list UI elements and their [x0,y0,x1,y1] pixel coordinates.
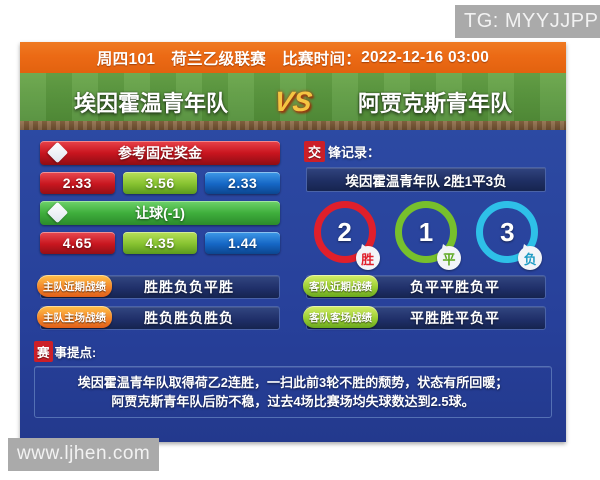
record-row: 主队主场战绩 胜负胜负胜负 [40,306,280,330]
kickoff-time-value: 2022-12-16 03:00 [361,49,489,67]
h2h-draw-circle: 1 平 [395,201,457,263]
kickoff-time-label: 比赛时间： [282,47,361,69]
home-recent-tag: 主队近期战绩 [37,275,112,297]
h2h-loss-badge: 负 [518,246,542,270]
record-row: 主队近期战绩 胜胜负负平胜 [40,275,280,299]
head-to-head-title: 交 锋记录： [304,141,550,162]
bonus-odd-away[interactable]: 2.33 [205,172,280,194]
card-body: 参考固定奖金 2.33 3.56 2.33 让球(-1) 4.65 4.35 [20,130,566,263]
h2h-win-circle: 2 胜 [314,201,376,263]
match-preview-card: 周四101 荷兰乙级联赛 比赛时间： 2022-12-16 03:00 埃因霍温… [20,42,566,442]
records-section: 主队近期战绩 胜胜负负平胜 主队主场战绩 胜负胜负胜负 客队近期战绩 负平平胜负… [20,275,566,337]
bonus-banner: 参考固定奖金 [40,141,280,165]
head-to-head-column: 交 锋记录： 埃因霍温青年队 2胜1平3负 2 胜 1 平 [300,141,552,263]
record-row: 客队近期战绩 负平平胜负平 [306,275,546,299]
h2h-win-badge: 胜 [356,246,380,270]
match-notes-title-rest: 事提点: [55,342,97,361]
match-notes-title-chip: 赛 [34,341,53,362]
round-label: 周四101 [97,47,155,69]
head-to-head-title-rest: 锋记录： [328,142,380,161]
screenshot-root: 周四101 荷兰乙级联赛 比赛时间： 2022-12-16 03:00 埃因霍温… [0,0,600,480]
head-to-head-title-chip: 交 [304,141,325,162]
bonus-banner-label: 参考固定奖金 [118,143,202,163]
handicap-banner: 让球(-1) [40,201,280,225]
handicap-odds-row: 4.65 4.35 1.44 [40,232,280,254]
odds-column: 参考固定奖金 2.33 3.56 2.33 让球(-1) 4.65 4.35 [34,141,286,263]
h2h-loss-circle: 3 负 [476,201,538,263]
away-away-tag: 客队客场战绩 [303,306,378,328]
handicap-odd-home[interactable]: 4.65 [40,232,115,254]
bonus-odd-home[interactable]: 2.33 [40,172,115,194]
handicap-odd-draw[interactable]: 4.35 [123,232,198,254]
home-home-tag: 主队主场战绩 [37,306,112,328]
match-notes-box: 埃因霍温青年队取得荷乙2连胜，一扫此前3轮不胜的颓势，状态有所回暖； 阿贾克斯青… [34,366,552,418]
home-team-name: 埃因霍温青年队 [46,86,256,118]
match-notes-line-2: 阿贾克斯青年队后防不稳，过去4场比赛场均失球数达到2.5球。 [45,392,541,411]
match-notes-section: 赛 事提点: 埃因霍温青年队取得荷乙2连胜，一扫此前3轮不胜的颓势，状态有所回暖… [34,341,552,418]
telegram-watermark: TG: MYYJJPP [455,5,600,38]
away-team-name: 阿贾克斯青年队 [330,86,540,118]
home-records: 主队近期战绩 胜胜负负平胜 主队主场战绩 胜负胜负胜负 [34,275,286,337]
head-to-head-summary: 埃因霍温青年队 2胜1平3负 [306,167,546,192]
away-records: 客队近期战绩 负平平胜负平 客队客场战绩 平胜胜平负平 [300,275,552,337]
league-label: 荷兰乙级联赛 [171,47,266,69]
handicap-odd-away[interactable]: 1.44 [205,232,280,254]
bonus-odds-row: 2.33 3.56 2.33 [40,172,280,194]
site-watermark: www.ljhen.com [8,438,159,471]
head-to-head-circles: 2 胜 1 平 3 负 [304,201,548,263]
h2h-draw-badge: 平 [437,246,461,270]
record-row: 客队客场战绩 平胜胜平负平 [306,306,546,330]
bonus-odd-draw[interactable]: 3.56 [123,172,198,194]
match-header-bar: 周四101 荷兰乙级联赛 比赛时间： 2022-12-16 03:00 [20,42,566,73]
vs-icon: VS [263,86,323,118]
away-recent-tag: 客队近期战绩 [303,275,378,297]
diamond-icon [47,202,68,223]
match-notes-line-1: 埃因霍温青年队取得荷乙2连胜，一扫此前3轮不胜的颓势，状态有所回暖； [45,373,541,392]
match-notes-title: 赛 事提点: [34,341,552,362]
handicap-banner-label: 让球(-1) [135,203,185,223]
pitch-banner: 埃因霍温青年队 VS 阿贾克斯青年队 [20,73,566,130]
diamond-icon [47,142,68,163]
